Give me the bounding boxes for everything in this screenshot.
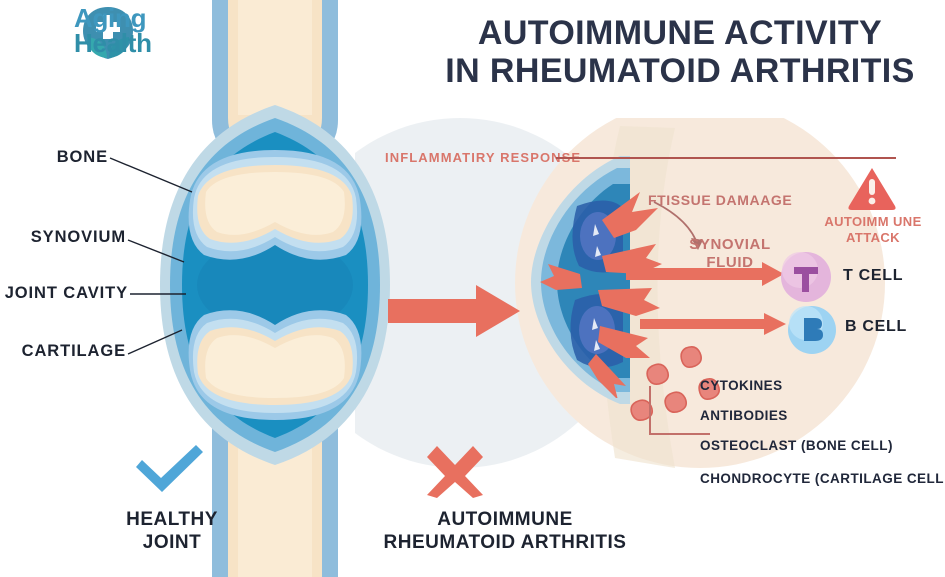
brand-name-line2: Health	[74, 31, 152, 56]
label-autoimmune-attack: AUTOIMM UNE ATTACK	[806, 214, 940, 246]
healthy-caption-line2: JOINT	[92, 531, 252, 554]
page-title: AUTOIMMUNE ACTIVITY IN RHEUMATOID ARTHRI…	[425, 14, 935, 90]
diseased-joint-caption: AUTOIMMUNE RHEUMATOID ARTHRITIS	[345, 508, 665, 554]
label-joint-cavity: JOINT CAVITY	[0, 284, 128, 303]
synovial-fluid-line1: SYNOVIAL	[675, 236, 785, 254]
warning-triangle-icon	[847, 166, 897, 210]
b-cell-icon	[786, 304, 838, 356]
b-cell-arrow-icon	[640, 313, 788, 337]
label-inflammatory-response: INFLAMMATIRY RESPONSE	[385, 150, 581, 165]
label-bone: BONE	[0, 148, 108, 167]
legend-item-antibodies: ANTIBODIES	[700, 408, 788, 423]
label-synovium: SYNOVIUM	[0, 228, 126, 247]
autoimmune-attack-line1: AUTOIMM UNE	[806, 214, 940, 230]
b-cell-label: B CELL	[845, 318, 907, 336]
legend-item-cytokines: CYTOKINES	[700, 378, 783, 393]
t-cell-label: T CELL	[843, 267, 903, 285]
healthy-caption-line1: HEALTHY	[92, 508, 252, 531]
legend-item-osteoclast: OSTEOCLAST (BONE CELL)	[700, 438, 893, 453]
brand-wordmark: Aging Health	[74, 6, 152, 56]
infographic-canvas: Aging Health AUTOIMMUNE ACTIVITY IN RHEU…	[0, 0, 945, 577]
legend-item-chondrocyte: CHONDROCYTE (CARTILAGE CELL	[700, 471, 944, 486]
healthy-joint-caption: HEALTHY JOINT	[92, 508, 252, 554]
autoimmune-attack-line2: ATTACK	[806, 230, 940, 246]
page-title-line2: IN RHEUMATOID ARTHRITIS	[425, 52, 935, 90]
page-title-line1: AUTOIMMUNE ACTIVITY	[425, 14, 935, 52]
label-cartilage: CARTILAGE	[0, 342, 126, 361]
cross-x-icon	[425, 444, 485, 500]
inflammatory-response-leader	[556, 150, 900, 166]
t-cell-icon	[778, 250, 834, 304]
diseased-caption-line2: RHEUMATOID ARTHRITIS	[345, 531, 665, 554]
t-cell-arrow-icon	[626, 262, 786, 288]
diseased-caption-line1: AUTOIMMUNE	[345, 508, 665, 531]
check-icon	[132, 443, 208, 497]
